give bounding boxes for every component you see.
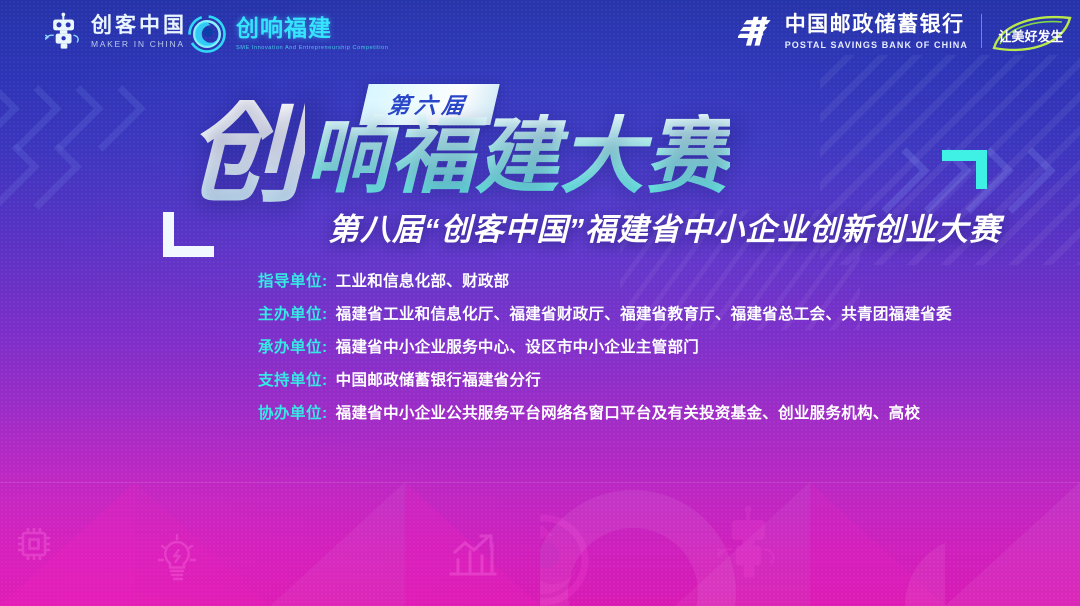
title-lead-char: 创 (186, 100, 305, 204)
info-row: 指导单位: 工业和信息化部、财政部 (258, 269, 952, 291)
info-label: 主办单位: (258, 302, 328, 324)
swirl-icon (186, 13, 228, 55)
leaf-slogan-icon: 让美好发生 (986, 12, 1076, 56)
logo-maker-cn: 创客中国 (91, 15, 187, 36)
logo-chuangxiang-fujian[interactable]: 创响福建 SME Innovation And Entrepreneurship… (186, 13, 388, 55)
bar-chart-icon (445, 530, 499, 578)
info-value: 福建省中小企业公共服务平台网络各窗口平台及有关投资基金、创业服务机构、高校 (336, 401, 921, 423)
triangle-decor (0, 482, 135, 606)
info-row: 主办单位: 福建省工业和信息化厅、福建省财政厅、福建省教育厅、福建省总工会、共青… (258, 302, 952, 324)
gear-icon (540, 500, 542, 606)
info-value: 中国邮政储蓄银行福建省分行 (336, 368, 541, 390)
logo-psbc-en: POSTAL SAVINGS BANK OF CHINA (785, 40, 968, 50)
info-label: 支持单位: (258, 368, 328, 390)
lightbulb-icon (155, 534, 199, 586)
logo-cxfj-en: SME Innovation And Entrepreneurship Comp… (236, 45, 388, 51)
band-cell (675, 482, 810, 606)
info-label: 协办单位: (258, 401, 328, 423)
title-rest: 响福建大赛 (305, 114, 730, 198)
band-cell (810, 482, 945, 606)
quarter-circle-decor (905, 536, 945, 606)
band-cell (945, 482, 1080, 606)
psbc-mark-icon (738, 15, 776, 49)
poster-banner: 创客中国 MAKER IN CHINA 创响福建 SME Innovation … (0, 0, 1080, 606)
logo-maker-in-china[interactable]: 创客中国 MAKER IN CHINA (44, 12, 187, 52)
organizer-info-list: 指导单位: 工业和信息化部、财政部 主办单位: 福建省工业和信息化厅、福建省财政… (258, 269, 952, 434)
swirl-icon (540, 510, 598, 606)
band-cell (540, 482, 810, 606)
triangle-decor (945, 482, 1080, 606)
triangle-decor (675, 482, 810, 606)
page-title: 创 响福建大赛 (186, 100, 730, 204)
logo-cxfj-cn: 创响福建 (236, 17, 388, 40)
triangle-decor (405, 482, 540, 606)
logo-maker-en: MAKER IN CHINA (91, 40, 187, 49)
bottom-decoration-band (0, 482, 1080, 606)
chip-icon (14, 524, 54, 564)
band-cell (0, 482, 135, 606)
info-value: 福建省工业和信息化厅、福建省财政厅、福建省教育厅、福建省总工会、共青团福建省委 (336, 302, 952, 324)
info-row: 协办单位: 福建省中小企业公共服务平台网络各窗口平台及有关投资基金、创业服务机构… (258, 401, 952, 423)
info-value: 福建省中小企业服务中心、设区市中小企业主管部门 (336, 335, 699, 357)
band-cell (540, 482, 675, 606)
info-row: 承办单位: 福建省中小企业服务中心、设区市中小企业主管部门 (258, 335, 952, 357)
band-cell (270, 482, 405, 606)
triangle-decor (270, 482, 405, 606)
info-value: 工业和信息化部、财政部 (336, 269, 510, 291)
triangle-decor (135, 482, 270, 606)
band-cell (135, 482, 270, 606)
corner-bracket-top-right (942, 150, 987, 189)
info-label: 承办单位: (258, 335, 328, 357)
circle-icon (540, 490, 736, 606)
slogan-text: 让美好发生 (998, 29, 1063, 44)
triangle-decor (810, 482, 945, 606)
maker-robot-icon (44, 12, 84, 52)
info-label: 指导单位: (258, 269, 328, 291)
band-divider (0, 482, 1080, 483)
logo-postal-savings-bank[interactable]: 中国邮政储蓄银行 POSTAL SAVINGS BANK OF CHINA (738, 14, 968, 50)
logo-psbc-cn: 中国邮政储蓄银行 (785, 14, 968, 35)
header-divider (981, 14, 982, 48)
header-bar: 创客中国 MAKER IN CHINA 创响福建 SME Innovation … (0, 0, 1080, 66)
band-cell (405, 482, 540, 606)
corner-bracket-bottom-left (163, 212, 214, 257)
maker-robot-icon (717, 498, 781, 590)
logo-slogan[interactable]: 让美好发生 (986, 12, 1066, 52)
page-subtitle: 第八届“创客中国”福建省中小企业创新创业大赛 (328, 204, 1001, 249)
info-row: 支持单位: 中国邮政储蓄银行福建省分行 (258, 368, 952, 390)
